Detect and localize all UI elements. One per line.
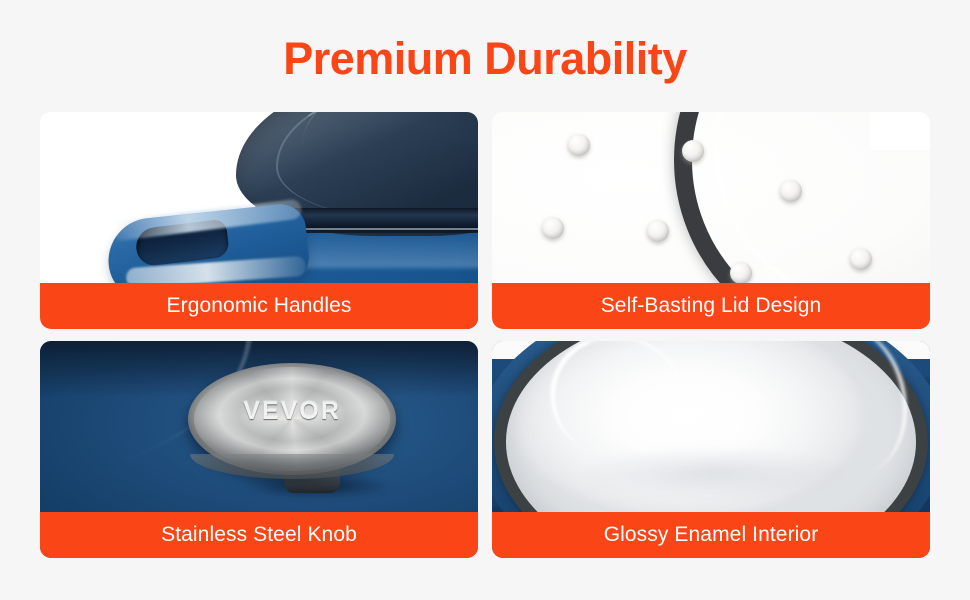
feature-caption: Self-Basting Lid Design	[492, 283, 930, 329]
feature-card-glossy-enamel-interior[interactable]: Glossy Enamel Interior	[492, 341, 930, 558]
basting-bump	[647, 220, 669, 242]
basting-bump	[850, 248, 872, 270]
feature-caption: Stainless Steel Knob	[40, 512, 478, 558]
photo-corner-fill	[870, 112, 930, 150]
feature-card-ergonomic-handles[interactable]: Ergonomic Handles	[40, 112, 478, 329]
knob-brand-label: VEVOR	[188, 397, 396, 426]
basting-bump	[542, 217, 564, 239]
feature-caption: Glossy Enamel Interior	[492, 512, 930, 558]
feature-grid: Ergonomic Handles Self-Basting Lid Desig…	[40, 112, 930, 558]
feature-card-stainless-steel-knob[interactable]: VEVOR Stainless Steel Knob	[40, 341, 478, 558]
feature-card-self-basting-lid[interactable]: Self-Basting Lid Design	[492, 112, 930, 329]
infographic-page: Premium Durability Ergonomic Handles	[0, 0, 970, 600]
feature-caption: Ergonomic Handles	[40, 283, 478, 329]
basting-bump	[568, 134, 590, 156]
basting-bump	[780, 180, 802, 202]
basting-bump	[682, 140, 704, 162]
page-title: Premium Durability	[0, 36, 970, 81]
basting-bump	[730, 262, 752, 284]
